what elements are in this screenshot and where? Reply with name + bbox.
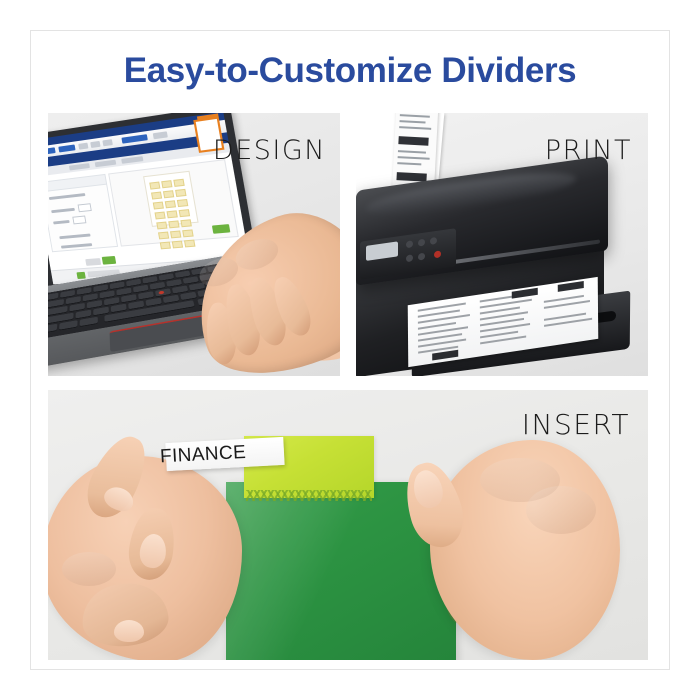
template-cell (165, 200, 176, 208)
template-cell (173, 179, 184, 187)
hand-icon-right (430, 440, 620, 660)
template-cell (179, 209, 190, 217)
template-cell (151, 192, 162, 200)
template-cell (158, 232, 169, 240)
panel-label-print: PRINT (545, 135, 632, 166)
tab-stitched-edge (246, 490, 372, 501)
toolbar-chip (58, 144, 75, 152)
printed-tab-block (512, 288, 538, 299)
form-option (59, 234, 90, 240)
template-cell (170, 230, 181, 238)
template-sheet (143, 171, 199, 227)
panel-design: DESIGN (48, 113, 340, 376)
knuckle (526, 486, 596, 534)
panel-insert: FINANCE INSERT (48, 390, 648, 660)
template-cell (160, 242, 171, 250)
template-cell (168, 220, 179, 228)
printer-button[interactable] (406, 240, 413, 248)
toolbar-chip (90, 141, 100, 148)
toolbar-chip (121, 134, 147, 144)
form-primary-button (102, 256, 117, 265)
fingernail (114, 620, 144, 642)
form-label (49, 193, 86, 200)
template-cell (177, 199, 188, 207)
template-cell (175, 189, 186, 197)
product-image-card: Easy-to-Customize Dividers (0, 0, 700, 700)
knuckle (62, 552, 116, 586)
label-strip-text: FINANCE (160, 442, 247, 468)
printer-power-button[interactable] (434, 250, 441, 258)
page-title: Easy-to-Customize Dividers (0, 50, 700, 92)
template-cell (149, 182, 160, 190)
panel-print: PRINT (356, 113, 648, 376)
printer-button[interactable] (430, 237, 437, 245)
form-input (72, 215, 86, 224)
template-cell (154, 212, 165, 220)
template-cell (184, 240, 196, 248)
template-cell (163, 190, 174, 198)
printer-button[interactable] (418, 253, 425, 261)
footer-button (76, 272, 85, 279)
toolbar-chip (78, 143, 88, 150)
template-cell (156, 222, 167, 230)
template-cell (166, 210, 177, 218)
panel-label-design: DESIGN (213, 135, 326, 166)
template-cell (182, 229, 194, 237)
form-input (78, 203, 92, 212)
hand-icon-left (48, 456, 242, 660)
template-cell (161, 180, 172, 188)
panel-label-insert: INSERT (522, 408, 630, 441)
printed-tab-block (432, 350, 458, 361)
preview-apply-button (212, 224, 230, 234)
template-preview (108, 159, 239, 246)
template-cell (153, 202, 164, 210)
form-header (48, 175, 106, 192)
form-label (53, 220, 70, 224)
form-option (61, 243, 92, 248)
printer-lcd-screen (366, 241, 398, 260)
printer-button[interactable] (406, 254, 413, 262)
toolbar-chip (102, 139, 112, 146)
knuckle (231, 233, 282, 275)
printed-tab-block (558, 281, 584, 292)
form-cancel-button (85, 258, 101, 266)
template-cell (172, 241, 183, 249)
toolbar-chip (48, 147, 56, 155)
toolbar-chip (153, 131, 168, 139)
form-label (51, 208, 75, 213)
printer-button[interactable] (418, 239, 425, 247)
template-cell (180, 219, 192, 227)
design-form-panel (48, 174, 118, 252)
